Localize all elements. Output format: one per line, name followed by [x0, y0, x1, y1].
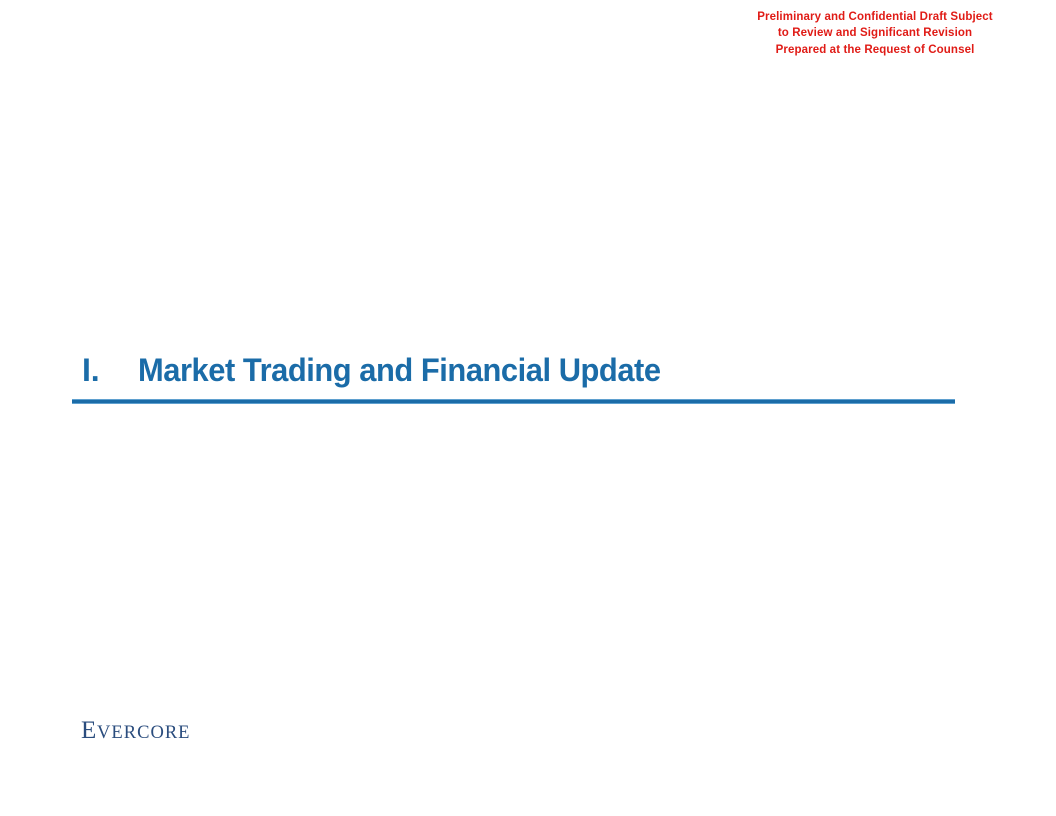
confidentiality-notice: Preliminary and Confidential Draft Subje…: [700, 9, 1050, 58]
page-title: Market Trading and Financial Update: [138, 350, 661, 390]
confidentiality-line-2: to Review and Significant Revision: [700, 25, 1050, 41]
evercore-logo: EVERCORE: [81, 718, 191, 743]
section-number: I.: [82, 350, 99, 390]
section-divider-rule: [72, 399, 955, 404]
evercore-logo-initial: E: [81, 717, 97, 744]
evercore-logo-text: VERCORE: [97, 723, 190, 743]
confidentiality-line-1: Preliminary and Confidential Draft Subje…: [700, 9, 1050, 25]
confidentiality-line-3: Prepared at the Request of Counsel: [700, 42, 1050, 58]
section-heading: I. Market Trading and Financial Update: [72, 350, 956, 392]
slide-canvas: Preliminary and Confidential Draft Subje…: [0, 0, 1056, 816]
